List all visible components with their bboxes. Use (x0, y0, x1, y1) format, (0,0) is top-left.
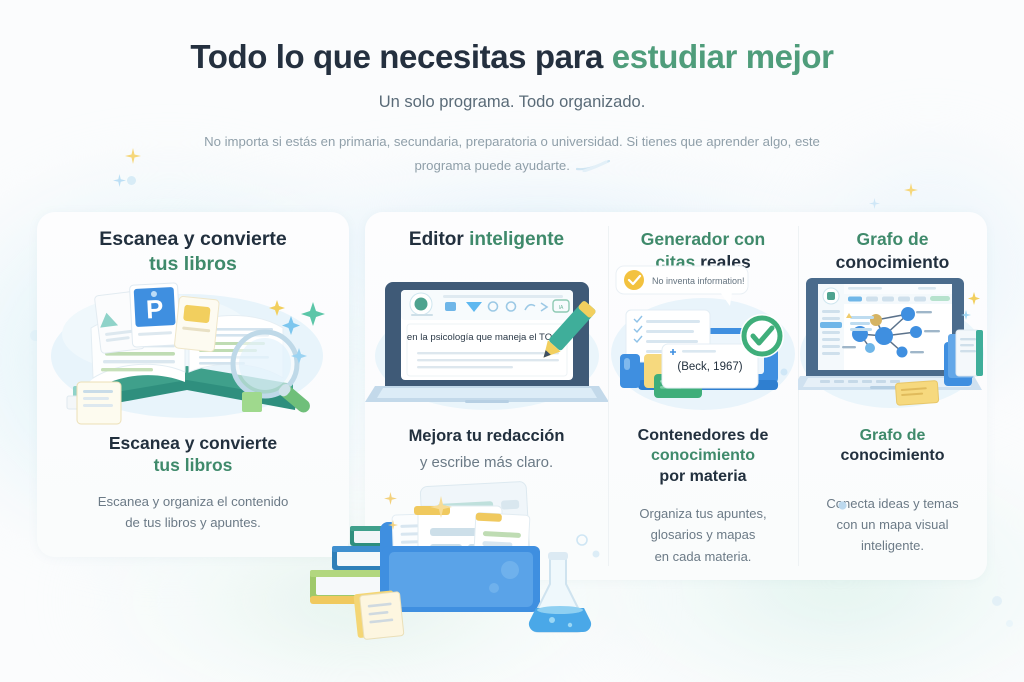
card-body-desc-line1: Escanea y organiza el contenido (37, 491, 349, 512)
card-body-title: Escanea y convierte tus libros (37, 432, 349, 477)
page-subtitle: Un solo programa. Todo organizado. (0, 93, 1024, 112)
card-heading: Editor inteligente (365, 228, 608, 253)
illustration-open-book-with-magnifier: P (37, 264, 349, 429)
card-heading-accent: inteligente (469, 229, 564, 250)
citation-text: (Beck, 1967) (677, 361, 742, 373)
page-header: Todo lo que necesitas para estudiar mejo… (0, 38, 1024, 179)
feature-card-grafo[interactable]: Grafo de conocimiento (798, 212, 987, 580)
card-body-title-line2: tus libros (154, 455, 233, 475)
feature-card-editor[interactable]: Editor inteligente (365, 212, 608, 580)
card-body-desc-line2: de tus libros y apuntes. (37, 512, 349, 533)
card-body: Grafo de conocimiento Conecta ideas y te… (798, 426, 987, 556)
card-body-desc: Organiza tus apuntes, glosarios y mapas … (608, 503, 798, 566)
card-heading-plain: Editor (409, 229, 469, 250)
card-body-title-line2: conocimiento (840, 447, 944, 464)
card-body: Mejora tu redacción y escribe más claro. (365, 426, 608, 475)
page-lede-line1: No importa si estás en primaria, secunda… (204, 134, 702, 149)
dot-bullet-icon (837, 500, 848, 511)
sparkle-icon (430, 496, 452, 518)
card-body-desc-line3: inteligente. (798, 535, 987, 556)
card-heading-line1: Escanea y convierte (99, 228, 287, 250)
card-body-title-line1: Grafo de (860, 427, 926, 444)
card-heading-line1: Grafo de (857, 229, 929, 249)
card-body-title-line1: Contenedores de (638, 427, 769, 444)
card-body-title: Mejora tu redacción (365, 426, 608, 447)
card-body: Escanea y convierte tus libros Escanea y… (37, 432, 349, 534)
page-root: Todo lo que necesitas para estudiar mejo… (0, 0, 1024, 682)
card-body-desc-line3: en cada materia. (608, 546, 798, 567)
card-body: Contenedores de conocimiento por materia… (608, 426, 798, 567)
card-body-desc: Escanea y organiza el contenido de tus l… (37, 491, 349, 534)
illustration-laptop-editor: IA en la psicología que maneja el TOC (365, 264, 608, 419)
bg-dot (1006, 620, 1013, 627)
sparkle-icon (869, 198, 880, 209)
card-body-title-line3: por materia (659, 468, 746, 485)
doc-badge-letter: P (145, 294, 164, 325)
card-body-desc-line2: con un mapa visual (798, 514, 987, 535)
card-body-desc-line1: Organiza tus apuntes, (608, 503, 798, 524)
feature-card-group: Editor inteligente (365, 212, 987, 580)
swoosh-icon (576, 160, 610, 172)
card-heading-line1: Generador con (641, 229, 765, 249)
page-lede: No importa si estás en primaria, secunda… (182, 130, 842, 179)
card-body-title: Grafo de conocimiento (798, 426, 987, 467)
sparkle-icon (904, 183, 918, 197)
page-title-plain: Todo lo que necesitas para (190, 38, 611, 75)
card-body-desc: Conecta ideas y temas con un mapa visual… (798, 493, 987, 556)
screen-button-label: IA (559, 305, 564, 311)
card-body-title: Contenedores de conocimiento por materia (608, 426, 798, 487)
card-body-title-line2: conocimiento (651, 447, 755, 464)
screen-text: en la psicología que maneja el TOC (407, 332, 559, 343)
card-body-desc: y escribe más claro. (365, 451, 608, 475)
card-body-desc-line1: Conecta ideas y temas (798, 493, 987, 514)
page-title-accent: estudiar mejor (612, 38, 834, 75)
feature-card-generador[interactable]: Generador con citas reales (608, 212, 798, 580)
feature-card-strip: Escanea y convierte tus libros (0, 212, 1024, 612)
sparkle-icon (384, 492, 397, 505)
tooltip-text: No inventa information! (652, 276, 745, 286)
card-body-desc-line2: glosarios y mapas (608, 524, 798, 545)
sparkle-icon (388, 520, 398, 530)
feature-card-escanea[interactable]: Escanea y convierte tus libros (37, 212, 349, 557)
page-title: Todo lo que necesitas para estudiar mejo… (0, 38, 1024, 77)
card-body-title-line1: Escanea y convierte (109, 433, 277, 453)
illustration-citation-tablet: (Beck, 1967) No inventa information! (608, 262, 798, 420)
illustration-knowledge-graph-laptop (798, 264, 987, 419)
